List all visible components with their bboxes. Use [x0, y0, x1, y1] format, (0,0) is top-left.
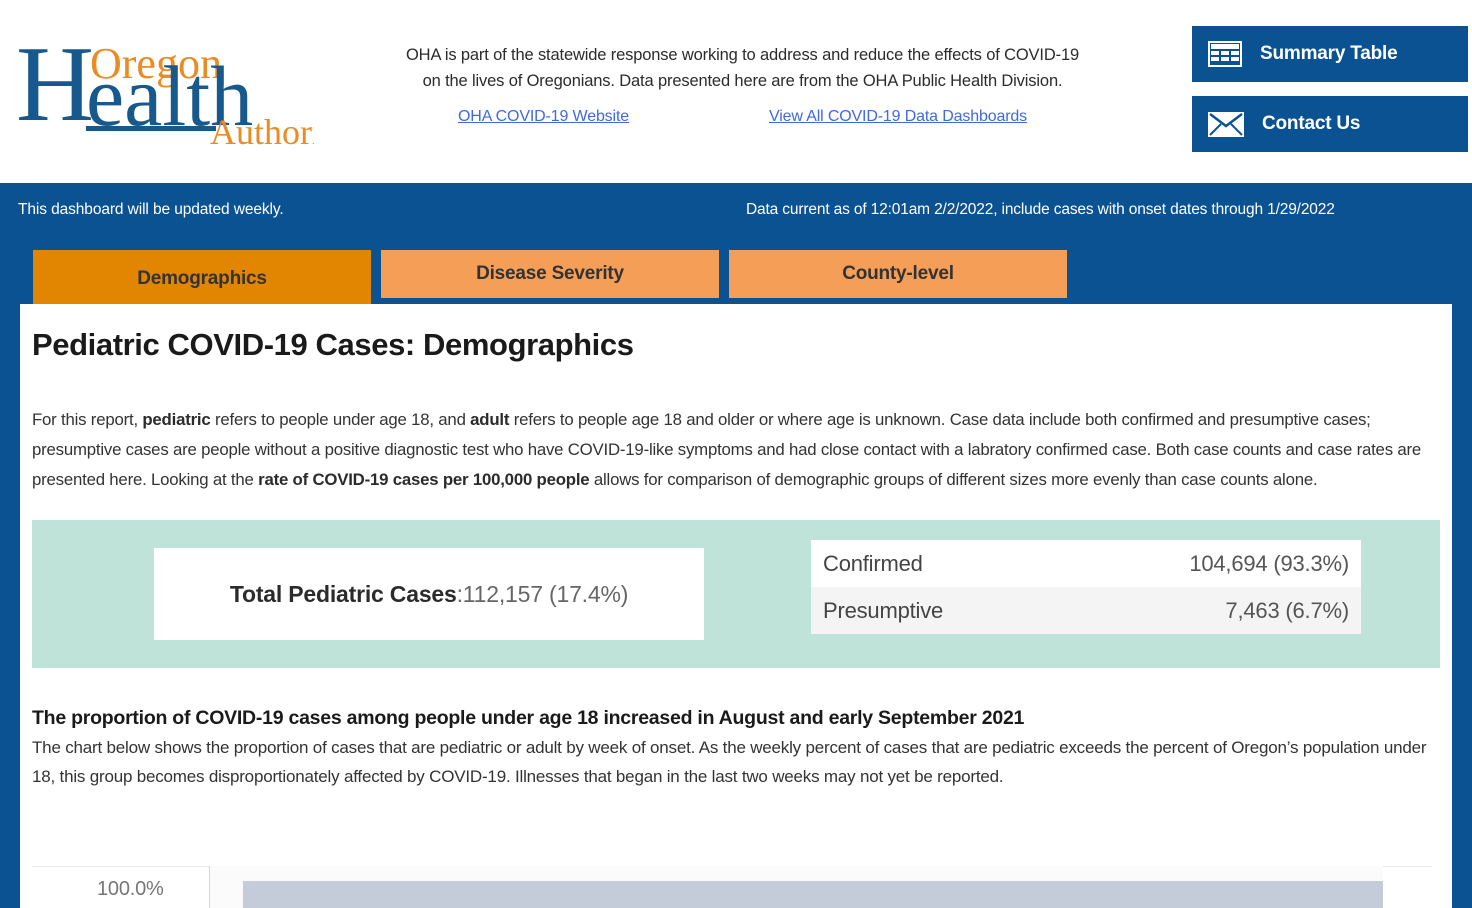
summary-table-button[interactable]: Summary Table [1192, 26, 1468, 82]
summary-table-button-label: Summary Table [1260, 43, 1398, 65]
confirmed-label: Confirmed [823, 551, 923, 577]
envelope-icon [1208, 112, 1244, 137]
header-description: OHA is part of the statewide response wo… [325, 42, 1160, 94]
oha-logo: H Oregon ealth Authority [14, 20, 314, 145]
update-info-bar: This dashboard will be updated weekly. D… [0, 180, 1472, 247]
intro-part-2: refers to people under age 18, and [211, 410, 471, 429]
case-type-table: Confirmed 104,694 (93.3%) Presumptive 7,… [811, 540, 1361, 634]
tab-county-level[interactable]: County-level [729, 250, 1067, 298]
presumptive-label: Presumptive [823, 598, 943, 624]
intro-part-1: For this report, [32, 410, 142, 429]
chart-y-axis [209, 866, 210, 908]
total-pediatric-cases-value: 112,157 (17.4%) [463, 581, 628, 608]
stats-panel: Total Pediatric Cases: 112,157 (17.4%) C… [32, 520, 1440, 668]
tab-bar: Demographics Disease Severity County-lev… [0, 247, 1472, 304]
svg-text:Authority: Authority [210, 112, 314, 145]
chart-bar-series-adult [243, 881, 1383, 908]
header-description-line1: OHA is part of the statewide response wo… [325, 42, 1160, 68]
intro-paragraph: For this report, pediatric refers to peo… [32, 405, 1440, 495]
intro-part-4: allows for comparison of demographic gro… [589, 470, 1317, 489]
tab-demographics[interactable]: Demographics [33, 250, 371, 307]
tab-demographics-label: Demographics [137, 268, 267, 290]
contact-us-button-label: Contact Us [1262, 113, 1360, 135]
chart-y-tick-100: 100.0% [97, 878, 164, 901]
update-frequency-text: This dashboard will be updated weekly. [18, 201, 284, 219]
table-icon [1208, 41, 1242, 67]
svg-text:H: H [16, 25, 94, 144]
intro-bold-pediatric: pediatric [142, 410, 210, 429]
intro-bold-rate: rate of COVID-19 cases per 100,000 peopl… [258, 470, 589, 489]
confirmed-value: 104,694 (93.3%) [1189, 551, 1349, 577]
header-description-line2: on the lives of Oregonians. Data present… [325, 68, 1160, 94]
section-heading: The proportion of COVID-19 cases among p… [32, 707, 1440, 730]
intro-bold-adult: adult [470, 410, 509, 429]
page-header: H Oregon ealth Authority OHA is part of … [0, 0, 1472, 180]
view-all-dashboards-link[interactable]: View All COVID-19 Data Dashboards [769, 108, 1027, 126]
total-pediatric-cases-label: Total Pediatric Cases [230, 581, 457, 608]
header-buttons: Summary Table Contact Us [1192, 26, 1468, 152]
header-links: OHA COVID-19 Website View All COVID-19 D… [325, 108, 1160, 126]
total-pediatric-cases-box: Total Pediatric Cases: 112,157 (17.4%) [154, 548, 704, 640]
tab-disease-severity[interactable]: Disease Severity [381, 250, 719, 298]
table-row: Confirmed 104,694 (93.3%) [811, 540, 1361, 587]
tab-disease-severity-label: Disease Severity [476, 263, 624, 285]
oha-covid-website-link[interactable]: OHA COVID-19 Website [458, 108, 629, 126]
main-content: Pediatric COVID-19 Cases: Demographics F… [20, 304, 1452, 908]
presumptive-value: 7,463 (6.7%) [1225, 598, 1349, 624]
section-body-text: The chart below shows the proportion of … [32, 733, 1440, 791]
data-currency-text: Data current as of 12:01am 2/2/2022, inc… [746, 201, 1335, 219]
proportion-chart: 100.0% [32, 866, 1432, 908]
page-title: Pediatric COVID-19 Cases: Demographics [32, 327, 1452, 363]
table-row: Presumptive 7,463 (6.7%) [811, 587, 1361, 634]
tab-county-level-label: County-level [842, 263, 954, 285]
contact-us-button[interactable]: Contact Us [1192, 96, 1468, 152]
content-frame: Pediatric COVID-19 Cases: Demographics F… [0, 304, 1472, 908]
